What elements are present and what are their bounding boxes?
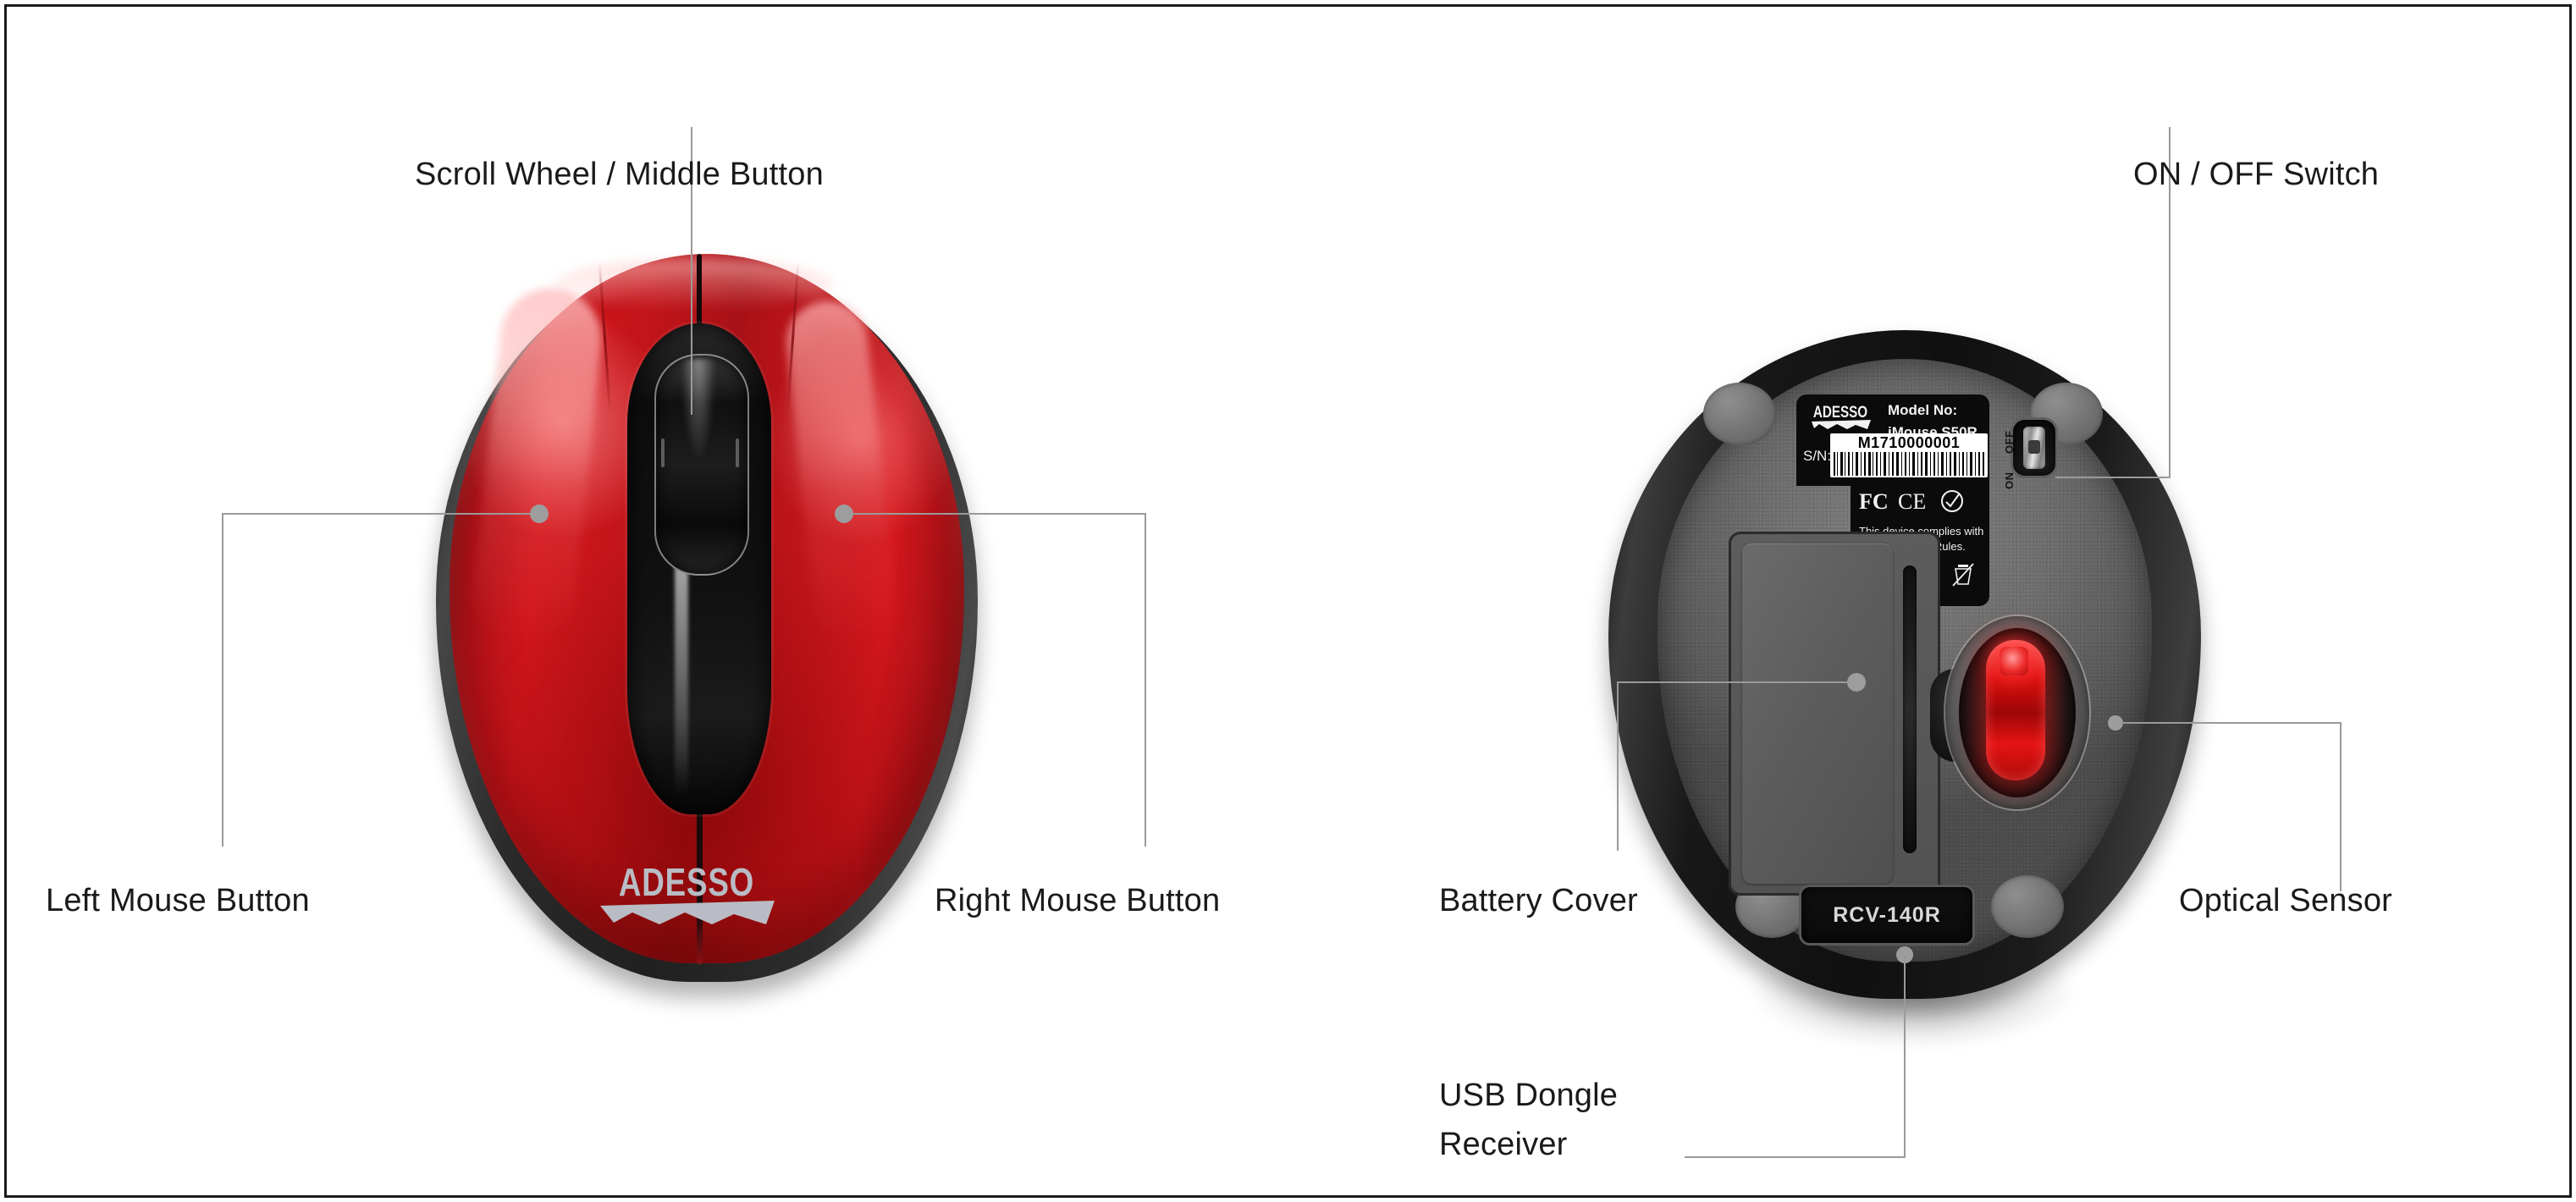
serial-number-value: M1710000001 <box>1830 434 1988 452</box>
adesso-logo-text: ADESSO <box>619 860 754 904</box>
callout-battery-cover: Battery Cover <box>1439 880 1638 922</box>
mouse-bottom-view: ADESSO Model No: iMouse S50R S/N: M17100… <box>1608 330 2201 1016</box>
leader-usb-dongle-vertical <box>1904 955 1906 1158</box>
switch-off-label: OFF <box>2003 431 2016 455</box>
ce-icon: CE <box>1898 489 1926 514</box>
adesso-label-text: ADESSO <box>1813 402 1867 421</box>
callout-right-button: Right Mouse Button <box>935 880 1220 922</box>
c-tick-icon <box>1942 491 1962 511</box>
optical-sensor-chip <box>2000 647 2028 675</box>
scroll-wheel-highlight <box>681 359 715 460</box>
leader-left-button-horizontal <box>222 513 532 515</box>
callout-left-button: Left Mouse Button <box>46 880 310 922</box>
glide-foot-bottom-right <box>1991 875 2064 938</box>
callout-optical-sensor: Optical Sensor <box>2179 880 2392 922</box>
center-seam-top <box>697 254 702 330</box>
label-model-key: Model No: <box>1888 401 1957 419</box>
leader-right-button-horizontal <box>852 513 1146 515</box>
leader-left-button-vertical <box>222 513 223 846</box>
label-sn-key: S/N: <box>1803 447 1831 465</box>
mouse-top-view: ADESSO <box>427 254 986 982</box>
usb-dongle-model-text: RCV-140R <box>1801 887 1972 943</box>
callout-scroll-wheel: Scroll Wheel / Middle Button <box>415 154 824 196</box>
on-off-switch-nub <box>2028 440 2040 454</box>
callout-on-off-switch: ON / OFF Switch <box>2133 154 2379 196</box>
fcc-icon: FC <box>1859 489 1889 514</box>
leader-switch-horizontal <box>2055 477 2171 478</box>
callout-usb-dongle-line1: USB Dongle <box>1439 1075 1618 1117</box>
adesso-logo-top: ADESSO <box>585 857 788 928</box>
leader-right-button-vertical <box>1145 513 1146 846</box>
adesso-logo-swoosh <box>600 901 775 924</box>
anchor-dot-left-button <box>530 505 549 523</box>
glide-foot-top-left <box>1703 383 1776 445</box>
adesso-logo-label: ADESSO <box>1805 401 1876 430</box>
switch-on-label: ON <box>2003 472 2016 490</box>
barcode-icon <box>1830 452 1988 476</box>
battery-cover-release-slot[interactable] <box>1903 565 1917 853</box>
anchor-dot-right-button <box>835 505 853 523</box>
leader-battery-cover-vertical <box>1617 681 1619 851</box>
wheel-notch-left <box>661 438 665 467</box>
leader-scroll-wheel-vertical-2 <box>691 254 692 415</box>
certification-marks: FC CE <box>1859 488 1972 516</box>
leader-optical-sensor-vertical <box>2340 722 2342 891</box>
leader-battery-cover-horizontal <box>1617 681 1851 683</box>
leader-scroll-wheel-vertical <box>691 127 692 271</box>
weee-bin-icon <box>1950 560 1976 589</box>
serial-number-box: M1710000001 <box>1830 433 1988 477</box>
adesso-label-swoosh <box>1812 420 1871 429</box>
callout-usb-dongle-line2: Receiver <box>1439 1124 1568 1166</box>
wheel-notch-right <box>736 438 739 467</box>
battery-cover[interactable] <box>1742 543 1893 884</box>
diagram-page: ADESSO Scroll Wheel / Middle Button Left… <box>0 0 2576 1202</box>
leader-optical-sensor-horizontal <box>2116 722 2342 724</box>
leader-usb-dongle-horizontal <box>1685 1156 1906 1158</box>
